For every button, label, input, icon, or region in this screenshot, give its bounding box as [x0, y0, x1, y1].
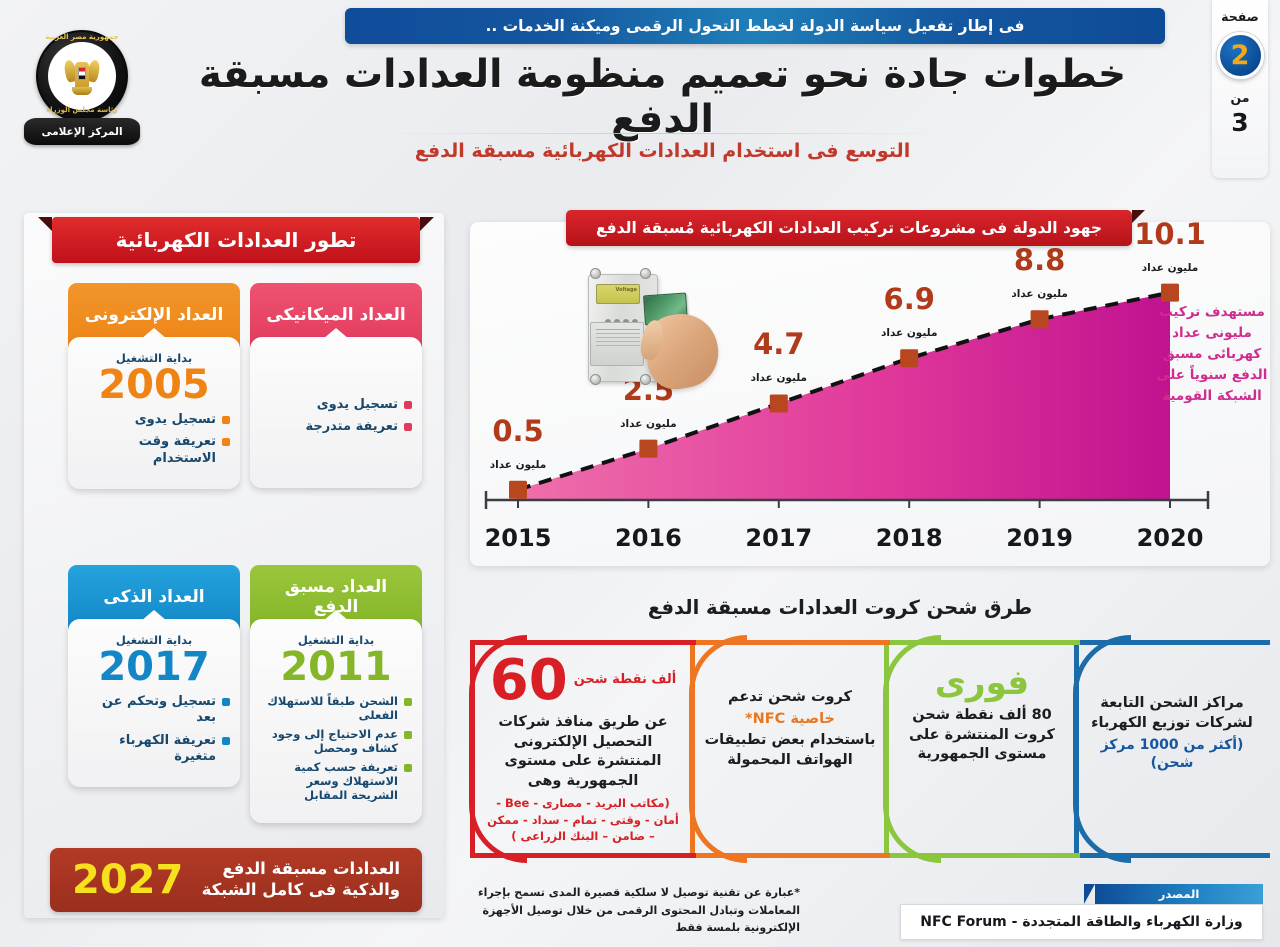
source-tab-label: المصدر: [1095, 884, 1263, 904]
chart-x-axis-labels: 201520162017201820192020: [470, 522, 1270, 556]
list-item: تسجيل وتحكم عن بعد: [78, 694, 230, 727]
payment-card-distribution-centers: مراكز الشحن التابعة لشركات توزيع الكهربا…: [1074, 640, 1270, 858]
bullet-text: تعريفة وقت الاستخدام: [78, 434, 216, 467]
page-indicator: صفحة 2 من 3: [1212, 0, 1268, 178]
meter-screw-icon: [640, 268, 651, 279]
list-item: تسجيل يدوى: [78, 412, 230, 428]
data-point-value: 0.5: [492, 414, 543, 448]
prepaid-meter-photo: Voltage: [582, 262, 737, 392]
x-tick-label: 2015: [485, 524, 552, 552]
bullet-dot: [222, 438, 230, 446]
list-item: الشحن طبقاً للاستهلاك الفعلى: [260, 694, 412, 723]
page-subtitle: التوسع فى استخدام العدادات الكهربائية مس…: [160, 140, 1165, 162]
meter-card-electronic-year: 2005: [78, 364, 230, 406]
payment-card-fawry: فورى 80 ألف نقطة شحن كروت المنتشرة على م…: [884, 640, 1080, 858]
meter-card-electronic-bullets: تسجيل يدوى تعريفة وقت الاستخدام: [78, 412, 230, 467]
meter-card-prepaid-body: بداية التشغيل 2011 الشحن طبقاً للاستهلاك…: [250, 619, 422, 823]
bullet-text: تسجيل يدوى: [317, 397, 398, 413]
list-item: تعريفة الكهرباء متغيرة: [78, 733, 230, 766]
egypt-cabinet-emblem-icon: جمهورية مصر العربية رئاسة مجلس الوزراء ا…: [22, 22, 142, 172]
bullet-text: الشحن طبقاً للاستهلاك الفعلى: [260, 694, 398, 723]
source-text: وزارة الكهرباء والطاقة المتجددة - NFC Fo…: [900, 904, 1263, 940]
payment-card-distribution-centers-note: (أكثر من 1000 مركز شحن): [1088, 736, 1256, 772]
card-notch: [323, 328, 349, 339]
payment-card-content: فورى 80 ألف نقطة شحن كروت المنتشرة على م…: [884, 640, 1080, 858]
card-notch: [141, 610, 167, 621]
data-point-unit: مليون عداد: [1011, 288, 1068, 300]
bullet-text: تعريفة متدرجة: [305, 419, 398, 435]
meter-card-electronic-body: بداية التشغيل 2005 تسجيل يدوى تعريفة وقت…: [68, 337, 240, 489]
payment-card-nfc-highlight: خاصية NFC*: [745, 710, 835, 730]
emblem-arc-bottom-text: رئاسة مجلس الوزراء: [22, 106, 142, 114]
meter-card-prepaid-year: 2011: [260, 646, 412, 688]
page-number-badge: 2: [1217, 32, 1264, 79]
meter-card-smart: العداد الذكى بداية التشغيل 2017 تسجيل وت…: [68, 565, 240, 787]
meter-card-mechanical-bullets: تسجيل يدوى تعريفة متدرجة: [260, 397, 412, 436]
meter-screw-icon: [590, 374, 601, 385]
meter-screw-icon: [640, 374, 651, 385]
bullet-dot: [222, 698, 230, 706]
page-title: خطوات جادة نحو تعميم منظومة العدادات مسب…: [160, 52, 1165, 142]
payment-card-distribution-centers-text: مراكز الشحن التابعة لشركات توزيع الكهربا…: [1088, 694, 1256, 733]
target-2027-text: العدادات مسبقة الدفع والذكية فى كامل الش…: [183, 859, 400, 900]
card-notch: [141, 328, 167, 339]
bullet-dot: [222, 416, 230, 424]
data-point-unit: مليون عداد: [620, 418, 677, 430]
meter-card-mechanical-body: تسجيل يدوى تعريفة متدرجة: [250, 337, 422, 488]
payment-methods-title: طرق شحن كروت العدادات مسبقة الدفع: [560, 596, 1120, 619]
emblem-ribbon-text: المركز الإعلامى: [24, 118, 140, 145]
fawry-brand-label: فورى: [935, 666, 1029, 700]
meter-buttons: [595, 310, 641, 317]
data-point-value: 6.9: [884, 282, 935, 316]
bullet-dot: [404, 731, 412, 739]
bullet-text: تعريفة حسب كمية الاستهلاك وسعر الشريحة ا…: [260, 760, 398, 803]
meter-card-smart-bullets: تسجيل وتحكم عن بعد تعريفة الكهرباء متغير…: [78, 694, 230, 765]
x-tick-label: 2017: [745, 524, 812, 552]
bullet-text: عدم الاحتياج إلى وجود كشاف ومحصل: [260, 727, 398, 756]
meter-label-plate: [590, 322, 644, 366]
meter-card-prepaid: العداد مسبق الدفع بداية التشغيل 2011 الش…: [250, 565, 422, 823]
list-item: تعريفة وقت الاستخدام: [78, 434, 230, 467]
target-2027-banner: العدادات مسبقة الدفع والذكية فى كامل الش…: [50, 848, 422, 912]
data-point-unit: مليون عداد: [881, 327, 938, 339]
bullet-text: تسجيل وتحكم عن بعد: [78, 694, 216, 727]
bullet-dot: [404, 423, 412, 431]
egypt-flag-shield-icon: [78, 67, 86, 80]
bullet-dot: [222, 737, 230, 745]
payment-card-content: كروت شحن تدعم خاصية NFC* باستخدام بعض تط…: [690, 640, 890, 858]
meter-card-prepaid-bullets: الشحن طبقاً للاستهلاك الفعلى عدم الاحتيا…: [260, 694, 412, 803]
title-divider: [380, 133, 940, 134]
bullet-text: تسجيل يدوى: [135, 412, 216, 428]
payment-card-ecollection-big-label: ألف نقطة شحن: [574, 673, 677, 688]
chart-title: جهود الدولة فى مشروعات تركيب العدادات ال…: [566, 210, 1132, 246]
data-point-unit: مليون عداد: [490, 459, 547, 471]
meter-lcd-text: Voltage: [597, 285, 639, 295]
infographic-page: فى إطار تفعيل سياسة الدولة لخطط التحول ا…: [0, 0, 1280, 947]
page-label: صفحة: [1221, 9, 1259, 24]
emblem-arc-top-text: جمهورية مصر العربية: [22, 33, 142, 41]
payment-card-ecollection: ألف نقطة شحن 60 عن طريق منافذ شركات التح…: [470, 640, 696, 858]
list-item: عدم الاحتياج إلى وجود كشاف ومحصل: [260, 727, 412, 756]
card-notch: [323, 610, 349, 621]
payment-methods-group: مراكز الشحن التابعة لشركات توزيع الكهربا…: [470, 640, 1270, 870]
bullet-dot: [404, 764, 412, 772]
x-tick-label: 2019: [1006, 524, 1073, 552]
eagle-tail: [72, 87, 92, 95]
payment-card-nfc-pre: كروت شحن تدعم: [728, 688, 852, 708]
x-tick-label: 2018: [876, 524, 943, 552]
payment-card-content: ألف نقطة شحن 60 عن طريق منافذ شركات التح…: [470, 640, 696, 858]
meter-card-smart-year: 2017: [78, 646, 230, 688]
meter-evolution-header: تطور العدادات الكهربائية: [52, 217, 420, 263]
data-point-unit: مليون عداد: [1142, 262, 1199, 274]
payment-card-nfc-post: باستخدام بعض تطبيقات الهواتف المحمولة: [704, 731, 876, 770]
chart-annotation: مستهدف تركيب مليونى عداد كهربائى مسبق ال…: [1156, 302, 1268, 407]
payment-card-nfc: كروت شحن تدعم خاصية NFC* باستخدام بعض تط…: [690, 640, 890, 858]
payment-card-ecollection-headline: ألف نقطة شحن 60: [490, 654, 676, 707]
eagle-of-saladin-icon: [66, 54, 98, 98]
meter-lcd-screen: Voltage: [596, 284, 640, 304]
payment-card-ecollection-note: (مكاتب البريد - مصارى - Bee - أمان - وقت…: [484, 795, 682, 843]
nfc-footnote: *عبارة عن تقنية توصيل لا سلكية قصيرة الم…: [470, 884, 800, 937]
meter-card-mechanical: العداد الميكانيكى تسجيل يدوى تعريفة متدر…: [250, 283, 422, 488]
meter-card-electronic: العداد الإلكترونى بداية التشغيل 2005 تسج…: [68, 283, 240, 489]
payment-card-ecollection-big: 60: [490, 654, 568, 707]
x-tick-label: 2016: [615, 524, 682, 552]
list-item: تعريفة متدرجة: [260, 419, 412, 435]
payment-card-fawry-text: 80 ألف نقطة شحن كروت المنتشرة على مستوى …: [898, 706, 1066, 765]
data-point-unit: مليون عداد: [751, 372, 808, 384]
target-2027-year: 2027: [72, 857, 183, 903]
bullet-dot: [404, 401, 412, 409]
bullet-dot: [404, 698, 412, 706]
payment-card-content: مراكز الشحن التابعة لشركات توزيع الكهربا…: [1074, 640, 1270, 858]
data-point-value: 8.8: [1014, 243, 1065, 277]
bullet-text: تعريفة الكهرباء متغيرة: [78, 733, 216, 766]
header-banner: فى إطار تفعيل سياسة الدولة لخطط التحول ا…: [345, 8, 1165, 44]
payment-card-ecollection-text: عن طريق منافذ شركات التحصيل الإلكترونى ا…: [484, 713, 682, 791]
meter-card-smart-body: بداية التشغيل 2017 تسجيل وتحكم عن بعد تع…: [68, 619, 240, 787]
meter-screw-icon: [590, 268, 601, 279]
list-item: تعريفة حسب كمية الاستهلاك وسعر الشريحة ا…: [260, 760, 412, 803]
x-tick-label: 2020: [1137, 524, 1204, 552]
page-total: 3: [1231, 108, 1248, 137]
page-of-label: من: [1231, 90, 1250, 105]
list-item: تسجيل يدوى: [260, 397, 412, 413]
data-point-value: 4.7: [753, 327, 804, 361]
